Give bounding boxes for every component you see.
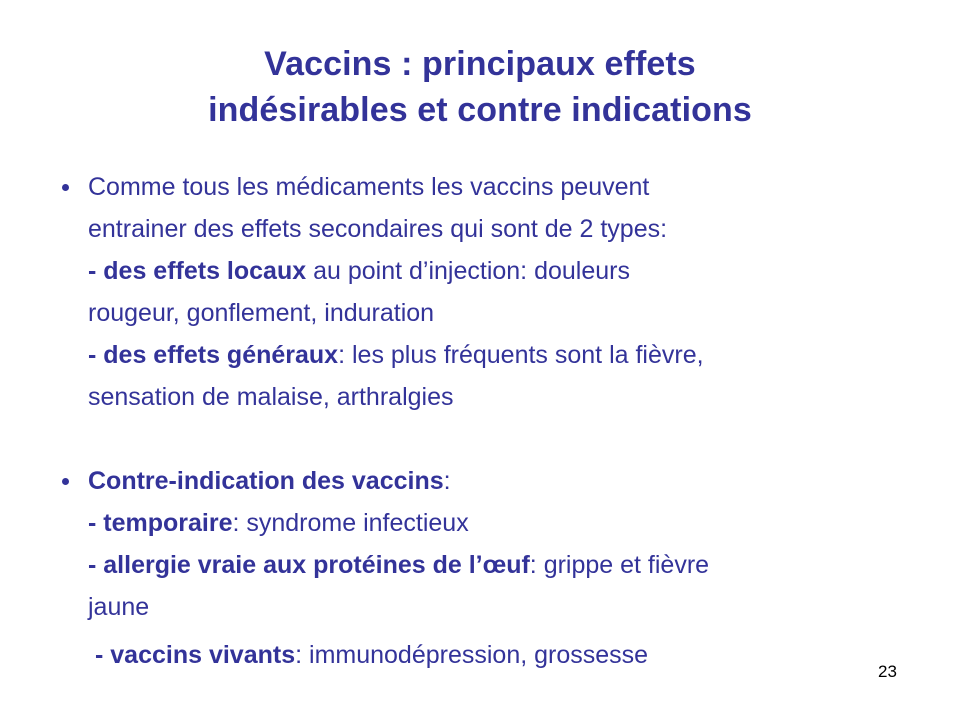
list-item-label-bold: - des effets généraux bbox=[88, 341, 338, 369]
bullet-block-effets-locaux: - des effets locaux au point d’injection… bbox=[0, 250, 960, 334]
list-item-line: rougeur, gonflement, induration bbox=[88, 299, 434, 327]
page-title: Vaccins : principaux effets indésirables… bbox=[60, 41, 900, 133]
list-item: - vaccins vivants: immunodépression, gro… bbox=[0, 634, 960, 676]
list-item: - des effets généraux: les plus fréquent… bbox=[0, 334, 960, 376]
page-title-line-2: indésirables et contre indications bbox=[60, 87, 900, 133]
section-spacer bbox=[0, 418, 960, 460]
list-item: Comme tous les médicaments les vaccins p… bbox=[0, 166, 960, 208]
bullet-block-allergie: - allergie vraie aux protéines de l’œuf:… bbox=[0, 544, 960, 628]
bullet-block-vaccins-vivants: - vaccins vivants: immunodépression, gro… bbox=[0, 634, 960, 676]
page-number: 23 bbox=[878, 662, 897, 682]
list-item-line: jaune bbox=[88, 593, 149, 621]
list-item-continuation: entrainer des effets secondaires qui son… bbox=[0, 208, 960, 250]
slide-body: Comme tous les médicaments les vaccins p… bbox=[0, 166, 960, 676]
list-item-text: : les plus fréquents sont la fièvre, bbox=[338, 341, 703, 369]
bullet-block-contre-indication: Contre-indication des vaccins: bbox=[0, 460, 960, 502]
list-item-line: entrainer des effets secondaires qui son… bbox=[88, 215, 667, 243]
list-item-line: sensation de malaise, arthralgies bbox=[88, 383, 453, 411]
list-item: - allergie vraie aux protéines de l’œuf:… bbox=[0, 544, 960, 586]
list-item: - des effets locaux au point d’injection… bbox=[0, 250, 960, 292]
list-item-continuation: rougeur, gonflement, induration bbox=[0, 292, 960, 334]
page-title-line-1: Vaccins : principaux effets bbox=[60, 41, 900, 87]
bullet-block-intro: Comme tous les médicaments les vaccins p… bbox=[0, 166, 960, 250]
list-item: - temporaire: syndrome infectieux bbox=[0, 502, 960, 544]
bullet-block-effets-generaux: - des effets généraux: les plus fréquent… bbox=[0, 334, 960, 418]
list-item-text: : bbox=[444, 467, 451, 495]
list-item-text: : immunodépression, grossesse bbox=[295, 641, 648, 669]
list-item-continuation: jaune bbox=[0, 586, 960, 628]
list-item-label-bold: - des effets locaux bbox=[88, 257, 306, 285]
list-item-label-bold: - temporaire bbox=[88, 509, 232, 537]
list-item: Contre-indication des vaccins: bbox=[0, 460, 960, 502]
list-item-text: au point d’injection: douleurs bbox=[306, 257, 630, 285]
list-item-label-bold: - allergie vraie aux protéines de l’œuf bbox=[88, 551, 530, 579]
list-item-continuation: sensation de malaise, arthralgies bbox=[0, 376, 960, 418]
list-item-label-bold: Contre-indication des vaccins bbox=[88, 467, 444, 495]
slide-canvas: Vaccins : principaux effets indésirables… bbox=[0, 0, 960, 720]
list-item-label-bold: - vaccins vivants bbox=[95, 641, 295, 669]
list-item-text: : syndrome infectieux bbox=[232, 509, 468, 537]
list-item-text: : grippe et fièvre bbox=[530, 551, 709, 579]
list-item-line: Comme tous les médicaments les vaccins p… bbox=[88, 173, 649, 201]
bullet-dot-icon bbox=[62, 184, 69, 191]
bullet-dot-icon bbox=[62, 478, 69, 485]
bullet-block-temporaire: - temporaire: syndrome infectieux bbox=[0, 502, 960, 544]
